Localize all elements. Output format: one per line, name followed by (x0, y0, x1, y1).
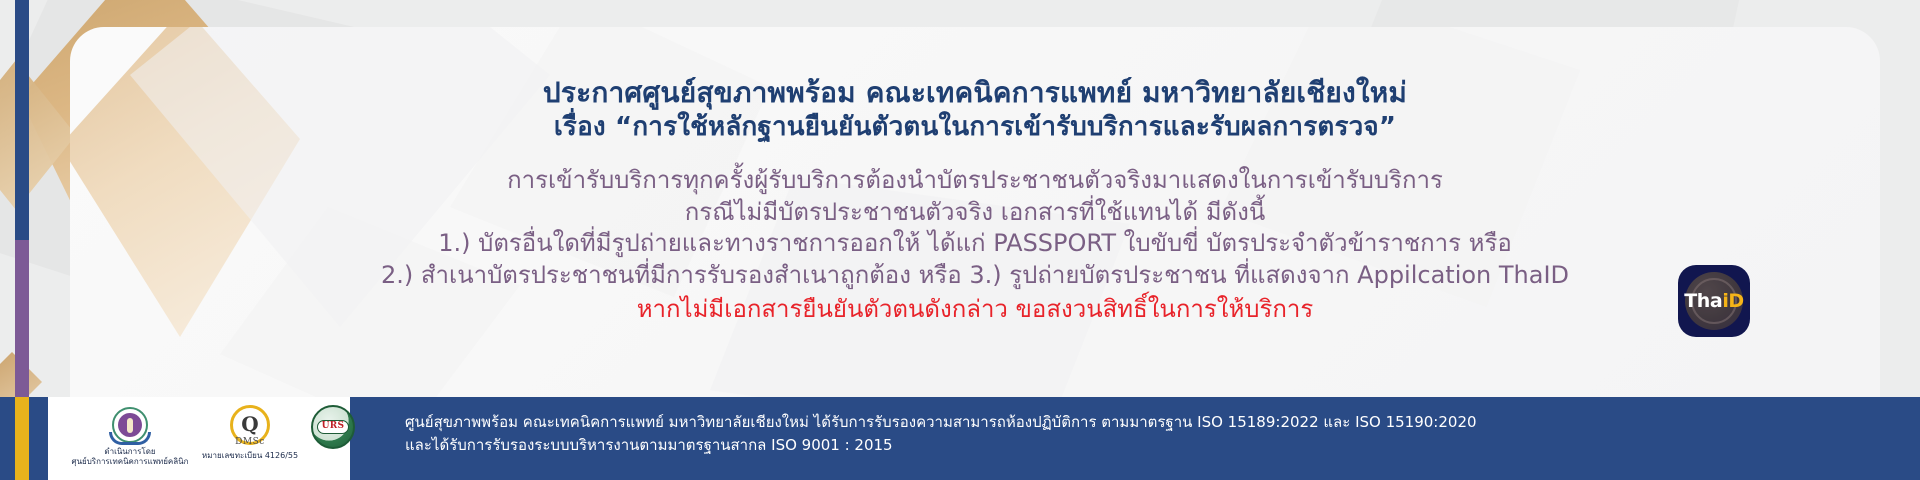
body-line-4: 2.) สำเนาบัตรประชาชนที่มีการรับรองสำเนาถ… (70, 260, 1880, 292)
urs-globe-emblem-icon: URS (310, 405, 356, 449)
footer-accreditation-text: ศูนย์สุขภาพพร้อม คณะเทคนิคการแพทย์ มหาวิ… (405, 411, 1477, 456)
footer-text-line-2: และได้รับการรับรองระบบบริหารงานตามมาตรฐา… (405, 434, 1477, 457)
body-line-1: การเข้ารับบริการทุกครั้งผู้รับบริการต้อง… (70, 165, 1880, 197)
mt-clinic-emblem-icon (107, 407, 153, 447)
announcement-card: ประกาศศูนย์สุขภาพพร้อม คณะเทคนิคการแพทย์… (70, 27, 1880, 397)
footer-text-line-1: ศูนย์สุขภาพพร้อม คณะเทคนิคการแพทย์ มหาวิ… (405, 411, 1477, 434)
thaid-app-icon: ThaiD (1678, 265, 1750, 337)
thaid-wordmark-secondary: iD (1722, 290, 1743, 312)
announcement-title: ประกาศศูนย์สุขภาพพร้อม คณะเทคนิคการแพทย์… (70, 75, 1880, 144)
body-warning-line: หากไม่มีเอกสารยืนยันตัวตนดังกล่าว ขอสงวน… (70, 294, 1880, 326)
dmsc-q-sub: DMSc (228, 437, 272, 447)
title-line-1: ประกาศศูนย์สุขภาพพร้อม คณะเทคนิคการแพทย์… (70, 75, 1880, 111)
poster-canvas: ประกาศศูนย์สุขภาพพร้อม คณะเทคนิคการแพทย์… (0, 0, 1920, 480)
body-line-3: 1.) บัตรอื่นใดที่มีรูปถ่ายและทางราชการออ… (70, 228, 1880, 260)
thaid-wordmark-primary: Tha (1684, 290, 1722, 312)
mt-clinic-caption-1: ดำเนินการโดย (55, 447, 205, 457)
body-line-2: กรณีไม่มีบัตรประชาชนตัวจริง เอกสารที่ใช้… (70, 197, 1880, 229)
announcement-body: การเข้ารับบริการทุกครั้งผู้รับบริการต้อง… (70, 165, 1880, 325)
dmsc-q-letter: Q (228, 412, 272, 436)
title-line-2: เรื่อง “การใช้หลักฐานยืนยันตัวตนในการเข้… (70, 111, 1880, 144)
accent-bar-navy (15, 0, 29, 240)
dmsc-caption: หมายเลขทะเบียน 4126/55 (195, 451, 305, 461)
logo-dmsc-q-seal: Q DMSc หมายเลขทะเบียน 4126/55 (195, 405, 305, 461)
logo-mt-clinic-seal: ดำเนินการโดย ศุนย์บริการเทคนิคการแพทย์คล… (55, 407, 205, 467)
footer-accreditation-logos: ดำเนินการโดย ศุนย์บริการเทคนิคการแพทย์คล… (55, 403, 345, 475)
mt-clinic-caption-2: ศุนย์บริการเทคนิคการแพทย์คลินิก (55, 457, 205, 467)
footer-gold-accent-bar (15, 397, 29, 480)
urs-letter: URS (310, 421, 356, 431)
thaid-wordmark: ThaiD (1684, 290, 1744, 312)
accent-bar-purple (15, 240, 29, 408)
dmsc-q-emblem-icon: Q DMSc (228, 405, 272, 447)
footer-bar: ดำเนินการโดย ศุนย์บริการเทคนิคการแพทย์คล… (0, 397, 1920, 480)
logo-urs-iso9001-seal: URS (303, 405, 363, 449)
